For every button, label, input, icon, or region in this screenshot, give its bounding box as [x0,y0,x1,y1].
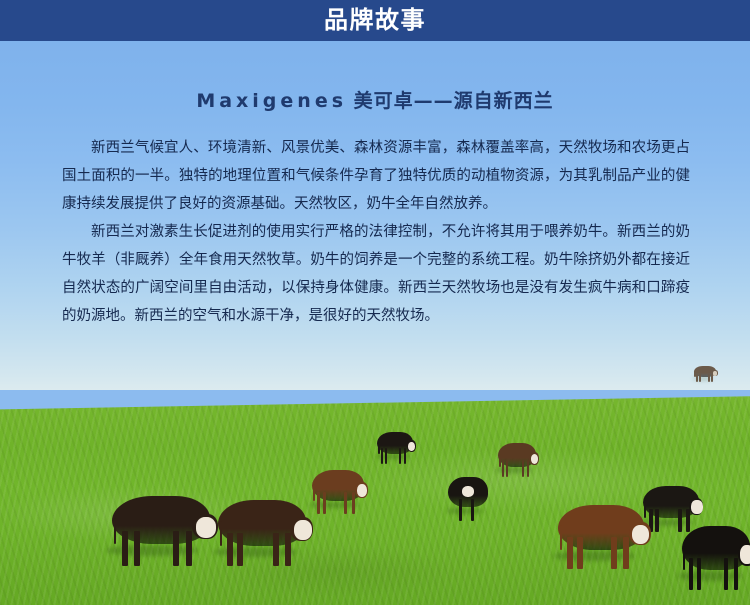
cow-leg [623,537,629,569]
cow-mid-black-center [448,477,488,507]
cow-leg [285,533,291,566]
brand-headline: Maxigenes 美可卓——源自新西兰 [0,86,750,113]
cow-shadow [106,545,198,556]
cow-leg [173,531,179,566]
section-title: 品牌故事 [324,0,426,41]
cow-leg [381,448,383,464]
cow-tail [313,484,315,501]
cow-leg [273,533,279,566]
cow-leg [708,374,710,382]
cow-leg [186,531,192,566]
cow-face-marking [196,517,216,537]
cow-front-left [112,496,210,544]
brand-name-latin: Maxigenes [196,90,347,112]
cow-leg [696,374,698,382]
cow-face-marking [632,525,649,544]
cow-face-marking [531,454,539,464]
cow-leg [724,558,728,590]
section-header-banner: 品牌故事 [0,0,750,41]
cow-tail [644,500,646,518]
cow-leg [689,558,693,590]
cow-shadow [678,571,742,581]
story-body: 新西兰气候宜人、环境清新、风景优美、森林资源丰富，森林覆盖率高，天然牧场和农场更… [62,134,690,330]
cow-ridge-distant [694,366,716,377]
story-content: Maxigenes 美可卓——源自新西兰 新西兰气候宜人、环境清新、风景优美、森… [0,41,750,330]
cow-front-black-right [682,526,750,570]
cow-leg [577,537,583,569]
cow-leg [522,460,524,477]
brand-name-cjk: 美可卓——源自新西兰 [354,90,554,112]
cow-leg [655,509,659,532]
cow-shadow [446,508,484,515]
cow-tail [378,442,380,454]
cow-leg [385,448,387,464]
cow-mid-brown-right [498,443,536,467]
cow-face-marking [713,371,717,376]
cow-front-left-second [218,500,306,546]
cow-leg [471,499,474,521]
cow-tail [560,525,562,550]
grass-field [0,365,750,605]
brand-story-page: 品牌故事 Maxigenes 美可卓——源自新西兰 新西兰气候宜人、环境清新、风… [0,0,750,605]
cow-mid-black-upper [377,432,413,454]
cow-tail [114,518,116,544]
cow-leg [527,460,529,477]
cow-tail [499,454,501,467]
cow-face-marking [357,484,368,497]
cow-leg [697,558,701,590]
cow-tail [220,521,222,546]
cow-mid-brown-left [312,470,364,501]
cow-leg [502,460,504,477]
cow-leg [567,537,573,569]
cow-leg [399,448,401,464]
cow-leg [227,533,233,566]
pasture-photo [0,365,750,605]
cow-leg [734,558,738,590]
story-paragraph: 新西兰对激素生长促进剂的使用实行严格的法律控制，不允许将其用于喂养奶牛。新西兰的… [62,218,690,330]
cow-leg [317,492,320,514]
cow-leg [344,492,347,514]
cow-leg [459,499,462,521]
cow-leg [323,492,326,514]
cow-face-marking [294,520,312,540]
cow-leg [134,531,140,566]
cow-front-hereford [558,505,644,550]
story-paragraph: 新西兰气候宜人、环境清新、风景优美、森林资源丰富，森林覆盖率高，天然牧场和农场更… [62,134,690,218]
cow-leg [122,531,128,566]
cow-black-right-upper [643,486,699,518]
cow-leg [611,537,617,569]
cow-face-marking [691,500,702,514]
cow-leg [352,492,355,514]
cow-leg [699,374,701,382]
cow-face-marking [740,545,750,564]
cow-leg [237,533,243,566]
